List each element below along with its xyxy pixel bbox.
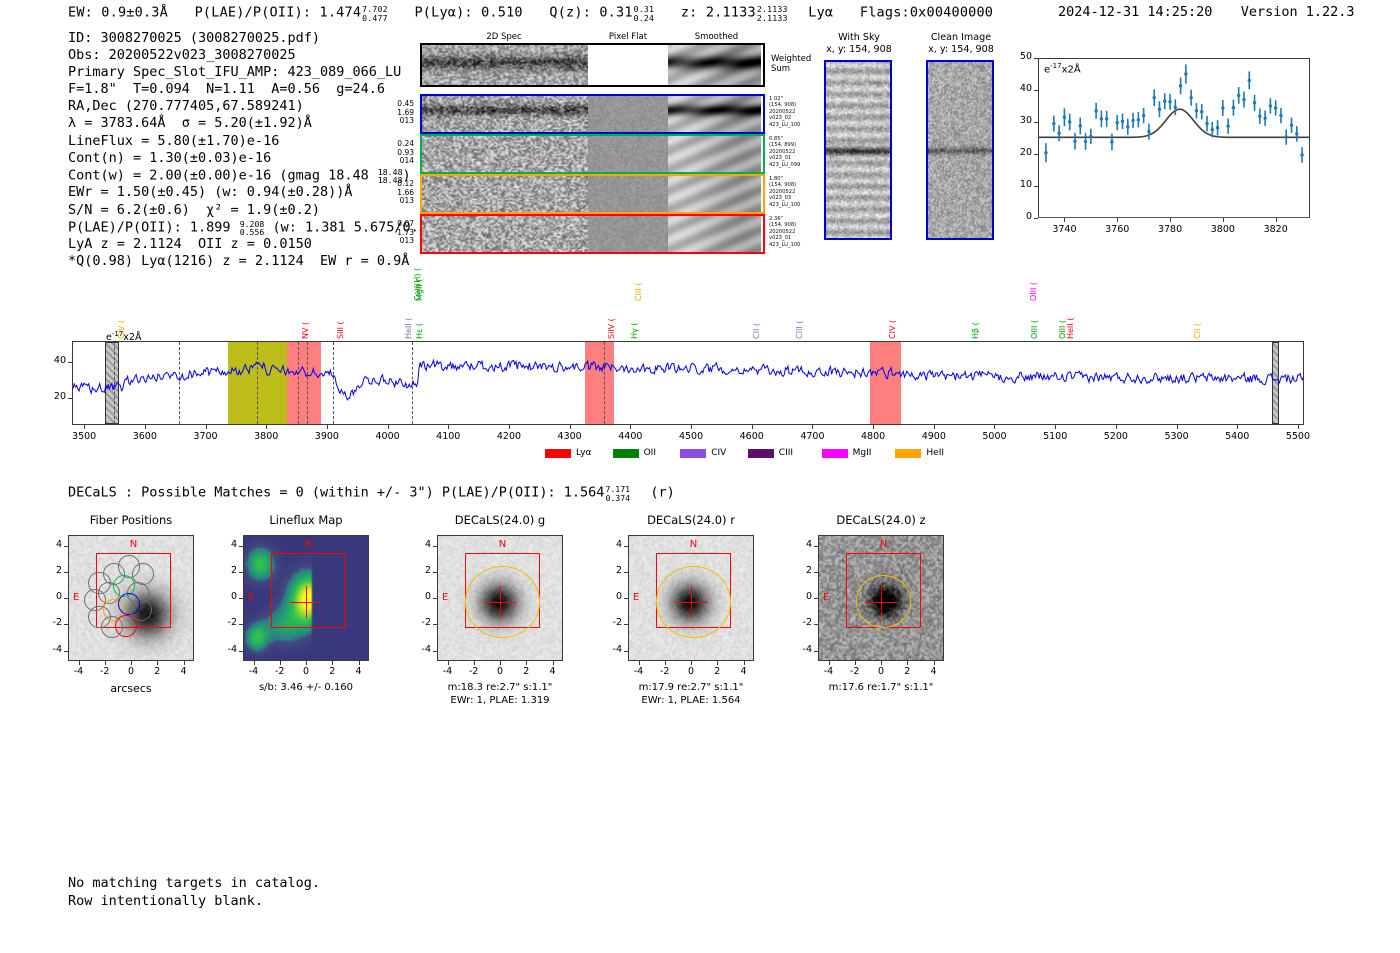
decals-panel-0-compass-e: E — [73, 592, 79, 603]
emission-line-label-0: CIV ( — [117, 320, 126, 339]
decals-panel-4-y-tick — [814, 572, 818, 573]
x-tick-label: 5400 — [1207, 431, 1267, 442]
decals-panel-4-title: DECaLS(24.0) z — [788, 513, 974, 527]
x-tick — [812, 425, 813, 429]
decals-panel-0-y-tick-label: 0 — [34, 591, 62, 602]
decals-panel-3-y-tick — [624, 598, 628, 599]
emission-line-label-18: CII ( — [1193, 323, 1202, 339]
decals-panel-4-y-tick — [814, 624, 818, 625]
x-tick-label: 5200 — [1086, 431, 1146, 442]
decals-panel-1-x-tick-label: 4 — [344, 666, 374, 677]
emission-line-label-13: Hβ ( — [971, 322, 980, 339]
legend-swatch-lyα — [545, 449, 571, 458]
legend-label-ciii: CIII — [779, 448, 793, 458]
decals-panel-4-y-tick — [814, 598, 818, 599]
decals-panel-1-y-tick-label: -4 — [209, 644, 237, 655]
x-tick-label: 4800 — [843, 431, 903, 442]
decals-panel-3-x-tick-label: 4 — [729, 666, 759, 677]
decals-panel-0-y-tick — [64, 546, 68, 547]
decals-panel-1-y-tick — [239, 598, 243, 599]
legend-swatch-ciii — [748, 449, 774, 458]
decals-panel-3-y-tick-label: -4 — [594, 644, 622, 655]
emission-line-label-9: CIII ( — [634, 283, 643, 301]
decals-panel-4-y-tick-label: 0 — [784, 591, 812, 602]
fiber-circle-13 — [115, 615, 137, 637]
decals-panel-4-crosshair-v — [881, 586, 882, 618]
decals-panel-2-y-tick-label: 2 — [403, 565, 431, 576]
x-tick — [145, 425, 146, 429]
decals-panel-2-x-tick-label: 4 — [538, 666, 568, 677]
legend-swatch-oii — [613, 449, 639, 458]
x-tick-label: 4500 — [661, 431, 721, 442]
legend-label-lyα: Lyα — [576, 448, 591, 458]
footer-line-1: No matching targets in catalog. — [68, 875, 320, 893]
y-tick-label: 40 — [36, 355, 66, 366]
x-tick — [994, 425, 995, 429]
emission-line-label-3: HeII ( — [404, 318, 413, 339]
x-tick — [1055, 425, 1056, 429]
x-tick — [1116, 425, 1117, 429]
x-tick-label: 5500 — [1268, 431, 1328, 442]
legend-swatch-civ — [680, 449, 706, 458]
decals-panel-2-x-tick — [553, 661, 554, 665]
decals-panel-3-x-tick — [665, 661, 666, 665]
decals-panel-2-compass-e: E — [442, 592, 448, 603]
decals-panel-3-title: DECaLS(24.0) r — [598, 513, 784, 527]
x-tick-label: 4400 — [600, 431, 660, 442]
decals-panel-1-x-tick — [332, 661, 333, 665]
decals-panel-3-crosshair-v — [691, 586, 692, 618]
emission-line-label-2: SiII ( — [336, 321, 345, 339]
decals-panel-1-y-tick — [239, 546, 243, 547]
legend-label-mgii: MgII — [853, 448, 872, 458]
decals-panel-2-x-tick — [526, 661, 527, 665]
decals-panel-row: Fiber PositionsNE-4-4-2-2002244arcsecsLi… — [0, 0, 1400, 250]
emission-line-label-4: Hε ( — [415, 323, 424, 339]
decals-panel-1-y-tick-label: 2 — [209, 565, 237, 576]
decals-panel-1-y-tick — [239, 651, 243, 652]
decals-panel-0-y-tick — [64, 651, 68, 652]
decals-panel-2-y-tick — [433, 624, 437, 625]
decals-panel-0-x-tick — [131, 661, 132, 665]
decals-panel-0-y-tick-label: -2 — [34, 617, 62, 628]
emission-line-label-7: SiIV ( — [607, 318, 616, 339]
x-tick — [266, 425, 267, 429]
decals-panel-1-y-tick-label: 0 — [209, 591, 237, 602]
decals-panel-2-y-tick — [433, 572, 437, 573]
x-tick-label: 5300 — [1147, 431, 1207, 442]
x-tick — [509, 425, 510, 429]
spectrum-trace — [73, 342, 1304, 425]
x-tick — [691, 425, 692, 429]
legend-swatch-mgii — [822, 449, 848, 458]
decals-header-text: DECaLS : Possible Matches = 0 (within +/… — [68, 485, 604, 501]
decals-panel-3-x-tick — [717, 661, 718, 665]
decals-panel-1-x-tick — [254, 661, 255, 665]
decals-panel-0-y-tick — [64, 598, 68, 599]
decals-panel-2-title: DECaLS(24.0) g — [407, 513, 593, 527]
x-tick-label: 4000 — [358, 431, 418, 442]
x-tick-label: 4600 — [722, 431, 782, 442]
x-tick — [1177, 425, 1178, 429]
emission-line-label-17: HeII ( — [1066, 318, 1075, 339]
decals-panel-2-y-tick — [433, 598, 437, 599]
decals-panel-1-y-tick-label: 4 — [209, 539, 237, 550]
decals-panel-2-x-tick — [474, 661, 475, 665]
decals-panel-0-title: Fiber Positions — [38, 513, 224, 527]
x-tick — [206, 425, 207, 429]
decals-panel-3-x-tick — [744, 661, 745, 665]
decals-panel-2-y-tick-label: 4 — [403, 539, 431, 550]
decals-panel-1-y-tick — [239, 572, 243, 573]
decals-panel-3-y-tick-label: 2 — [594, 565, 622, 576]
emission-line-label-15: OIII ( — [1029, 282, 1038, 301]
decals-panel-4-x-tick — [907, 661, 908, 665]
spectrum-frame — [72, 341, 1304, 425]
decals-panel-2-x-tick — [448, 661, 449, 665]
decals-panel-0-x-tick — [184, 661, 185, 665]
decals-panel-2-y-tick-label: -4 — [403, 644, 431, 655]
decals-panel-3-y-tick — [624, 572, 628, 573]
decals-panel-4-y-tick-label: 4 — [784, 539, 812, 550]
x-tick — [1237, 425, 1238, 429]
decals-panel-2-y-tick-label: -2 — [403, 617, 431, 628]
x-tick — [752, 425, 753, 429]
emission-line-label-6: MgII ( — [415, 279, 424, 301]
decals-panel-1-x-tick — [280, 661, 281, 665]
decals-panel-4-y-tick-label: 2 — [784, 565, 812, 576]
legend-label-heii: HeII — [926, 448, 944, 458]
decals-panel-0-y-tick-label: 2 — [34, 565, 62, 576]
legend-swatch-heii — [895, 449, 921, 458]
decals-panel-0-y-tick — [64, 572, 68, 573]
decals-panel-3-compass-e: E — [633, 592, 639, 603]
decals-panel-1-compass-n: N — [305, 539, 312, 550]
decals-panel-0-x-tick-label: 4 — [169, 666, 199, 677]
decals-panel-2-crosshair-v — [500, 586, 501, 618]
emission-line-label-8: Hγ ( — [630, 323, 639, 339]
x-tick — [84, 425, 85, 429]
x-tick — [934, 425, 935, 429]
decals-panel-1-caption-1: s/b: 3.46 +/- 0.160 — [203, 682, 409, 695]
emission-line-label-10: CII ( — [752, 323, 761, 339]
legend-label-oii: OII — [644, 448, 656, 458]
decals-panel-1-crosshair-v — [306, 586, 307, 618]
x-tick-label: 3500 — [54, 431, 114, 442]
decals-panel-1-y-tick-label: -2 — [209, 617, 237, 628]
decals-panel-0-x-tick — [105, 661, 106, 665]
decals-panel-4-y-tick — [814, 546, 818, 547]
x-tick — [388, 425, 389, 429]
decals-panel-3-caption-1: m:17.9 re:2.7" s:1.1" — [588, 682, 794, 695]
x-tick-label: 3800 — [236, 431, 296, 442]
decals-header: DECaLS : Possible Matches = 0 (within +/… — [68, 484, 675, 501]
x-tick — [570, 425, 571, 429]
x-tick-label: 4700 — [782, 431, 842, 442]
decals-panel-4-x-tick-label: 4 — [919, 666, 949, 677]
x-tick — [448, 425, 449, 429]
emission-line-label-11: CIII ( — [795, 321, 804, 339]
decals-panel-1-x-tick — [359, 661, 360, 665]
decals-panel-3-compass-n: N — [690, 539, 697, 550]
x-tick — [873, 425, 874, 429]
decals-panel-4-x-tick — [829, 661, 830, 665]
decals-panel-4-compass-n: N — [880, 539, 887, 550]
y-tick — [68, 398, 72, 399]
decals-panel-4-y-tick-label: -2 — [784, 617, 812, 628]
decals-header-lo: 0.374 — [605, 493, 630, 503]
decals-panel-4-compass-e: E — [823, 592, 829, 603]
x-tick — [327, 425, 328, 429]
decals-panel-2-y-tick — [433, 651, 437, 652]
decals-panel-3-y-tick-label: 4 — [594, 539, 622, 550]
x-tick-label: 3900 — [297, 431, 357, 442]
decals-panel-1-y-tick — [239, 624, 243, 625]
decals-panel-3-caption-2: EWr: 1, PLAE: 1.564 — [588, 695, 794, 708]
decals-panel-3-y-tick-label: -2 — [594, 617, 622, 628]
x-tick-label: 4300 — [540, 431, 600, 442]
y-tick-label: 20 — [36, 391, 66, 402]
decals-panel-4-x-tick — [855, 661, 856, 665]
decals-panel-3-y-tick-label: 0 — [594, 591, 622, 602]
footer-text: No matching targets in catalog. Row inte… — [68, 875, 320, 910]
decals-panel-2-y-tick-label: 0 — [403, 591, 431, 602]
decals-panel-2-compass-n: N — [499, 539, 506, 550]
decals-panel-4-x-tick — [934, 661, 935, 665]
spectrum-legend: LyαOIICIVCIIIMgIIHeII — [72, 447, 1304, 461]
decals-panel-3-y-tick — [624, 624, 628, 625]
legend-label-civ: CIV — [711, 448, 726, 458]
emission-line-label-14: OIII ( — [1030, 320, 1039, 339]
x-tick-label: 3700 — [176, 431, 236, 442]
full-spectrum-decorations: CIV (NV (SiII (HeII (Hε (CaII(H) (MgII (… — [72, 341, 1304, 342]
x-tick-label: 5100 — [1025, 431, 1085, 442]
decals-panel-1-compass-e: E — [248, 592, 254, 603]
x-tick — [630, 425, 631, 429]
y-tick — [68, 362, 72, 363]
x-tick-label: 4200 — [479, 431, 539, 442]
decals-panel-4-x-tick — [881, 661, 882, 665]
emission-line-label-12: CIV ( — [888, 320, 897, 339]
decals-panel-0-compass-n: N — [130, 539, 137, 550]
x-tick-label: 3600 — [115, 431, 175, 442]
decals-header-tail: (r) — [650, 485, 674, 501]
decals-panel-3-y-tick — [624, 651, 628, 652]
decals-panel-1-title: Lineflux Map — [213, 513, 399, 527]
decals-panel-0-y-tick-label: -4 — [34, 644, 62, 655]
decals-panel-2-caption-2: EWr: 1, PLAE: 1.319 — [397, 695, 603, 708]
decals-panel-2-caption-1: m:18.3 re:2.7" s:1.1" — [397, 682, 603, 695]
decals-panel-2-x-tick — [500, 661, 501, 665]
decals-panel-0-x-tick — [79, 661, 80, 665]
x-tick-label: 4900 — [904, 431, 964, 442]
footer-line-2: Row intentionally blank. — [68, 893, 320, 911]
full-spectrum-plot: e-17x2Å350036003700380039004000410042004… — [72, 341, 1304, 425]
decals-panel-3-x-tick — [639, 661, 640, 665]
decals-panel-4-y-tick — [814, 651, 818, 652]
decals-panel-4-y-tick-label: -4 — [784, 644, 812, 655]
decals-panel-2-y-tick — [433, 546, 437, 547]
decals-panel-3-x-tick — [691, 661, 692, 665]
decals-panel-1-aperture-box — [271, 553, 347, 629]
emission-line-label-1: NV ( — [301, 322, 310, 339]
decals-panel-4-caption-1: m:17.6 re:1.7" s:1.1" — [778, 682, 984, 695]
decals-panel-0-x-tick — [157, 661, 158, 665]
decals-panel-0-xlabel: arcsecs — [38, 683, 224, 696]
decals-panel-0-y-tick-label: 4 — [34, 539, 62, 550]
decals-panel-3-y-tick — [624, 546, 628, 547]
decals-panel-1-x-tick — [306, 661, 307, 665]
x-tick — [1298, 425, 1299, 429]
x-tick-label: 4100 — [418, 431, 478, 442]
decals-panel-0-y-tick — [64, 624, 68, 625]
x-tick-label: 5000 — [964, 431, 1024, 442]
